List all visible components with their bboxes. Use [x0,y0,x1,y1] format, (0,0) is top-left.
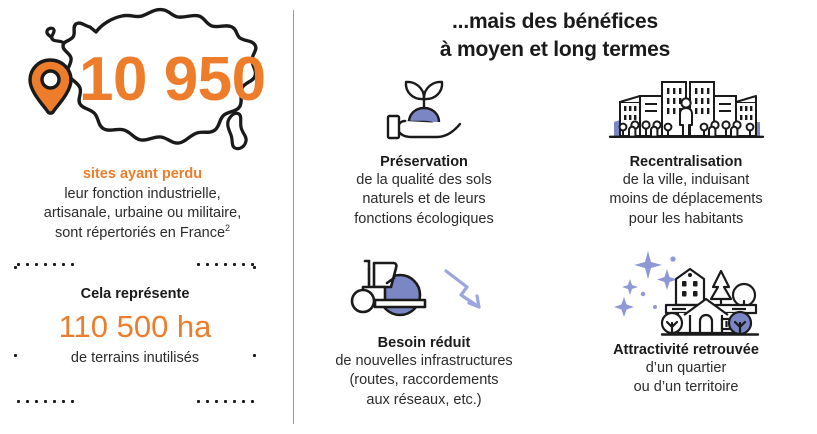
sites-caption-line-3: sont répertoriés en France2 [0,223,285,243]
sites-count-number: 10 950 [79,49,266,111]
benefit-title-attractivite: Attractivité retrouvée [555,341,817,359]
benefit-body-line: (routes, raccordements [293,371,555,390]
infographic-page: 10 950 sites ayant perdu leur fonction i… [0,0,817,434]
right-panel: ...mais des bénéfices à moyen et long te… [293,0,817,434]
sites-caption-line-1: leur fonction industrielle, [0,185,285,204]
benefit-body-line: aux réseaux, etc.) [293,391,555,410]
benefit-body-line: fonctions écologiques [293,210,555,229]
road-roller-down-arrow-icon [293,247,555,325]
benefit-body-line: naturels et de leurs [293,190,555,209]
benefit-title-preservation: Préservation [293,153,555,171]
benefit-item-preservation: Préservation de la qualité des sols natu… [293,72,555,229]
down-arrow [446,271,479,307]
benefit-item-attractivite: Attractivité retrouvée d’un quartier ou … [555,249,817,398]
benefit-body-preservation: de la qualité des sols naturels et de le… [293,171,555,229]
benefit-body-line: pour les habitants [555,210,817,229]
hand-holding-plant-icon [293,72,555,144]
neighborhood-sparkles-icon [555,249,817,337]
benefits-heading: ...mais des bénéfices à moyen et long te… [293,8,817,64]
benefit-title-besoin-reduit: Besoin réduit [293,334,555,352]
benefit-body-attractivite: d’un quartier ou d’un territoire [555,359,817,398]
footnote-marker: 2 [225,223,230,233]
left-panel: 10 950 sites ayant perdu leur fonction i… [0,0,293,434]
benefit-body-line: de nouvelles infrastructures [293,352,555,371]
sites-caption-strong: sites ayant perdu [0,165,285,184]
benefit-body-line: de la qualité des sols [293,171,555,190]
benefit-body-recentralisation: de la ville, induisant moins de déplacem… [555,171,817,229]
benefit-body-line: ou d’un territoire [555,378,817,397]
map-pin-icon [30,60,71,113]
benefit-body-line: moins de déplacements [555,190,817,209]
benefit-body-line: de la ville, induisant [555,171,817,190]
surface-callout-title: Cela représente [14,286,256,303]
benefit-body-line: d’un quartier [555,359,817,378]
sites-caption-line-2: artisanale, urbaine ou militaire, [0,204,285,223]
benefit-body-besoin-reduit: de nouvelles infrastructures (routes, ra… [293,352,555,410]
benefit-item-besoin-reduit: Besoin réduit de nouvelles infrastructur… [293,247,555,410]
benefits-heading-line-2: à moyen et long termes [293,36,817,64]
benefit-item-recentralisation: Recentralisation de la ville, induisant … [555,72,817,229]
city-buildings-person-icon [555,72,817,144]
sites-caption: sites ayant perdu leur fonction industri… [0,165,285,243]
sites-caption-line-3-text: sont répertoriés en France [55,225,225,241]
benefit-title-recentralisation: Recentralisation [555,153,817,171]
surface-callout-content: Cela représente 110 500 ha de terrains i… [14,286,256,368]
surface-callout-subtitle: de terrains inutilisés [14,350,256,367]
surface-callout-box: Cela représente 110 500 ha de terrains i… [14,263,256,403]
benefits-heading-line-1: ...mais des bénéfices [293,8,817,36]
surface-callout-number: 110 500 ha [14,307,256,348]
